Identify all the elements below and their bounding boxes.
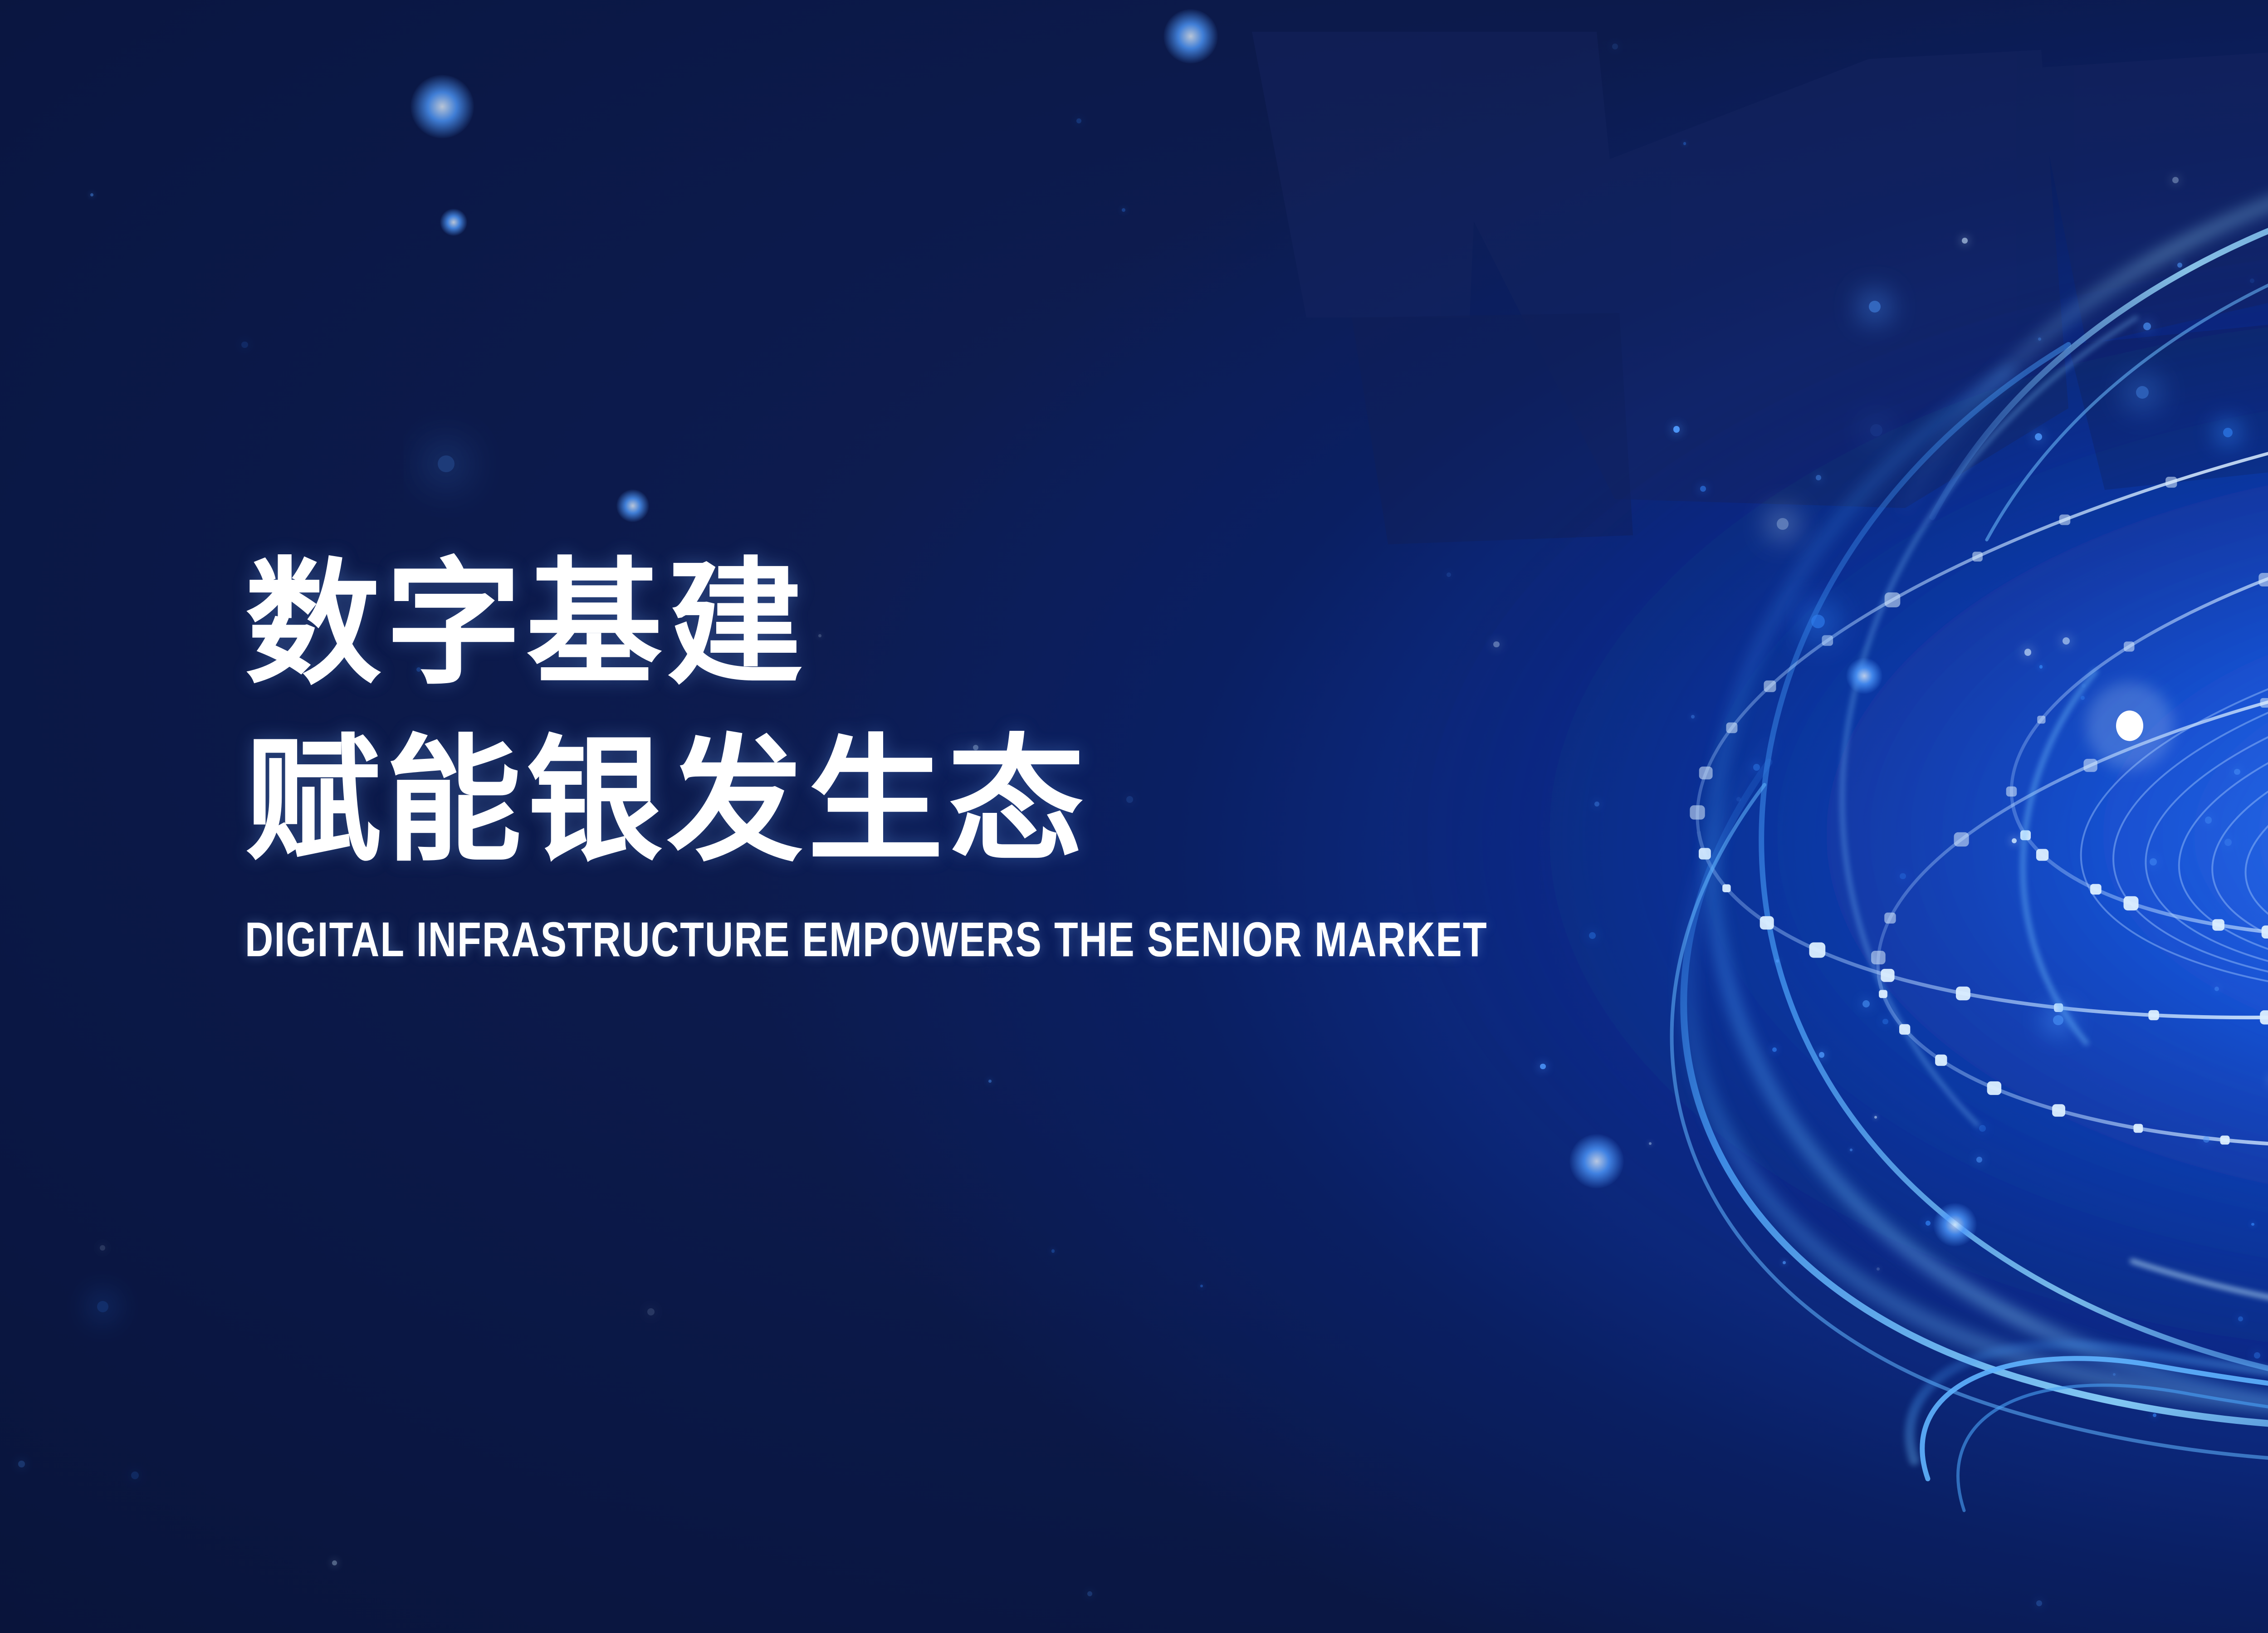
bokeh-bloom [1846, 658, 1882, 694]
particle-dot [2113, 1373, 2116, 1376]
particle-dot [1850, 1149, 1853, 1151]
particle-dot [2063, 637, 2070, 645]
particle-dot [1051, 1249, 1055, 1252]
particle-dot [1772, 1047, 1777, 1052]
particle-dot [332, 1560, 337, 1565]
particle-dot [2038, 337, 2041, 341]
particle-dot [1979, 1125, 1986, 1132]
title-line-1: 数字基建 [245, 535, 1787, 712]
particle-dot [2172, 177, 2179, 183]
particle-dot [131, 1472, 139, 1479]
particle-dot [1783, 1261, 1786, 1264]
subtitle-english: DIGITAL INFRASTRUCTURE EMPOWERS THE SENI… [245, 911, 1479, 968]
particle-dot [18, 1461, 25, 1467]
particle-dot [1874, 1116, 1877, 1119]
particle-dot [2143, 323, 2151, 330]
particle-dot [1540, 1064, 1545, 1069]
bokeh-bloom [411, 75, 474, 138]
particle-dot [2254, 1352, 2260, 1359]
swirl-arcs-back [1712, 318, 2268, 1419]
particle-dot [1087, 1591, 1092, 1596]
hero-banner: 数字基建 赋能银发生态 DIGITAL INFRASTRUCTURE EMPOW… [0, 0, 2268, 1633]
particle-dot [2177, 263, 2182, 268]
particle-dot [2136, 386, 2149, 399]
orbit-markers [2086, 682, 2268, 1151]
particle-dot [2214, 987, 2219, 991]
particle-dot [1862, 1000, 1870, 1007]
particle-dot [2053, 1015, 2063, 1026]
particle-dot [2203, 1136, 2209, 1143]
particle-dot [1962, 238, 1968, 244]
particle-dot [1777, 518, 1789, 530]
particle-dot [2035, 433, 2042, 440]
particle-dot [1877, 1267, 1880, 1271]
bokeh-bloom [440, 209, 467, 236]
particle-dot [2223, 428, 2233, 437]
particle-dot [1900, 873, 1906, 880]
particle-dot [241, 342, 248, 348]
particle-dot [1926, 1221, 1931, 1226]
particle-dot [2150, 858, 2157, 865]
particle-dot [988, 1080, 992, 1083]
particle-dot [2234, 769, 2240, 775]
orbit-halo-faint [2256, 916, 2268, 1279]
particle-dot [2224, 839, 2232, 846]
particle-dot [2251, 1223, 2254, 1226]
particle-dot [2039, 665, 2043, 669]
particle-dot [438, 455, 455, 472]
bokeh-bloom [1163, 9, 1218, 64]
particle-dot [1612, 44, 1618, 49]
particle-dot [1649, 1142, 1652, 1145]
headline-block: 数字基建 赋能银发生态 DIGITAL INFRASTRUCTURE EMPOW… [245, 535, 1787, 968]
particle-dot [1819, 1052, 1824, 1057]
particle-dot [1816, 475, 1821, 480]
particle-dot [1076, 118, 1081, 123]
particle-dot [2082, 684, 2086, 688]
particle-dot [97, 1301, 108, 1312]
particle-dot [90, 193, 93, 196]
particle-dot [2238, 1316, 2243, 1321]
title-line-2: 赋能银发生态 [245, 712, 1787, 889]
orbit-ring-concentric-group [2058, 544, 2268, 1052]
particle-dot [1811, 615, 1825, 628]
particle-dot [2250, 279, 2254, 283]
particle-dot [2153, 1413, 2157, 1418]
bokeh-bloom [1933, 1203, 1977, 1247]
particle-dot [1200, 1285, 1203, 1288]
particle-dot [1869, 301, 1881, 313]
particle-dot [2081, 696, 2085, 700]
particle-dot [1700, 486, 1706, 492]
bokeh-bloom [1569, 1134, 1624, 1188]
bokeh-bloom [616, 489, 649, 522]
particle-dot [2036, 1600, 2042, 1606]
particle-dot [1870, 424, 1882, 436]
particle-dot [2012, 838, 2017, 843]
particle-dot [2024, 649, 2032, 656]
particle-dot [1976, 1157, 1982, 1163]
particle-dot [1683, 142, 1686, 145]
particle-dot [647, 1308, 655, 1315]
particle-dot [1882, 1019, 1888, 1024]
particle-dot [100, 1245, 105, 1251]
particle-dot [2205, 816, 2212, 824]
particle-dot [1122, 208, 1125, 212]
particle-dot [1673, 426, 1680, 433]
